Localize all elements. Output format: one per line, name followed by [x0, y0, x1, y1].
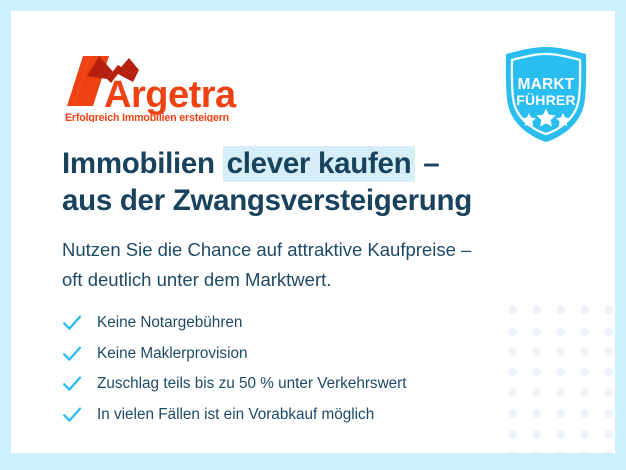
- list-item: Keine Notargebühren: [62, 308, 512, 339]
- decor-dot: [532, 450, 541, 453]
- page-title: Immobilien clever kaufen – aus der Zwang…: [62, 145, 532, 219]
- list-item: Keine Maklerprovision: [62, 339, 512, 370]
- decor-dot: [580, 450, 589, 453]
- decor-dot: [556, 368, 565, 377]
- decor-dot: [580, 409, 589, 418]
- decor-dot: [580, 306, 589, 315]
- headline-part2: –: [415, 147, 439, 180]
- decor-dot: [604, 388, 613, 397]
- list-item-label: Keine Maklerprovision: [97, 344, 248, 364]
- logo-wordmark: Argetra: [104, 74, 237, 116]
- badge-line1: MARKT: [518, 76, 575, 93]
- decor-dot: [532, 430, 541, 439]
- decor-dot: [580, 347, 589, 356]
- headline-highlight: clever kaufen: [223, 146, 416, 182]
- decor-dot: [532, 347, 541, 356]
- check-icon: [62, 313, 82, 333]
- headline-line2: aus der Zwangsversteigerung: [62, 182, 532, 219]
- list-item: Zuschlag teils bis zu 50 % unter Verkehr…: [62, 369, 512, 400]
- decor-dot: [556, 306, 565, 315]
- list-item-label: Zuschlag teils bis zu 50 % unter Verkehr…: [97, 374, 406, 394]
- decor-dot: [580, 388, 589, 397]
- decor-dot: [556, 450, 565, 453]
- decor-dot: [532, 306, 541, 315]
- marktfuehrer-badge: MARKT FÜHRER: [500, 45, 592, 145]
- decor-dot: [556, 430, 565, 439]
- check-icon: [62, 405, 82, 425]
- promo-card: Argetra Erfolgreich Immobilien ersteiger…: [11, 11, 615, 453]
- list-item-label: In vielen Fällen ist ein Vorabkauf mögli…: [97, 405, 374, 425]
- decor-dot: [532, 388, 541, 397]
- check-icon: [62, 374, 82, 394]
- benefits-list: Keine Notargebühren Keine Maklerprovisio…: [62, 308, 512, 430]
- decor-dot: [580, 327, 589, 336]
- decorative-dot-grid: [508, 306, 615, 453]
- decor-dot: [508, 450, 517, 453]
- decor-dot: [532, 368, 541, 377]
- decor-dot: [532, 409, 541, 418]
- decor-dot: [604, 347, 613, 356]
- outer-frame: Argetra Erfolgreich Immobilien ersteiger…: [0, 0, 626, 470]
- logo-tagline: Erfolgreich Immobilien ersteigern: [65, 112, 229, 122]
- decor-dot: [604, 409, 613, 418]
- decor-dot: [580, 368, 589, 377]
- decor-dot: [604, 327, 613, 336]
- subtitle-line1: Nutzen Sie die Chance auf attraktive Kau…: [62, 235, 542, 265]
- decor-dot: [556, 327, 565, 336]
- list-item-label: Keine Notargebühren: [97, 313, 242, 333]
- list-item: In vielen Fällen ist ein Vorabkauf mögli…: [62, 400, 512, 431]
- decor-dot: [532, 327, 541, 336]
- decor-dot: [604, 306, 613, 315]
- badge-line2: FÜHRER: [516, 92, 576, 108]
- decor-dot: [556, 388, 565, 397]
- decor-dot: [604, 450, 613, 453]
- argetra-logo[interactable]: Argetra Erfolgreich Immobilien ersteiger…: [63, 52, 253, 122]
- decor-dot: [604, 368, 613, 377]
- decor-dot: [556, 409, 565, 418]
- page-subtitle: Nutzen Sie die Chance auf attraktive Kau…: [62, 235, 542, 295]
- check-icon: [62, 344, 82, 364]
- headline-part1: Immobilien: [62, 147, 223, 180]
- decor-dot: [556, 347, 565, 356]
- decor-dot: [580, 430, 589, 439]
- subtitle-line2: oft deutlich unter dem Marktwert.: [62, 265, 542, 295]
- decor-dot: [508, 430, 517, 439]
- decor-dot: [604, 430, 613, 439]
